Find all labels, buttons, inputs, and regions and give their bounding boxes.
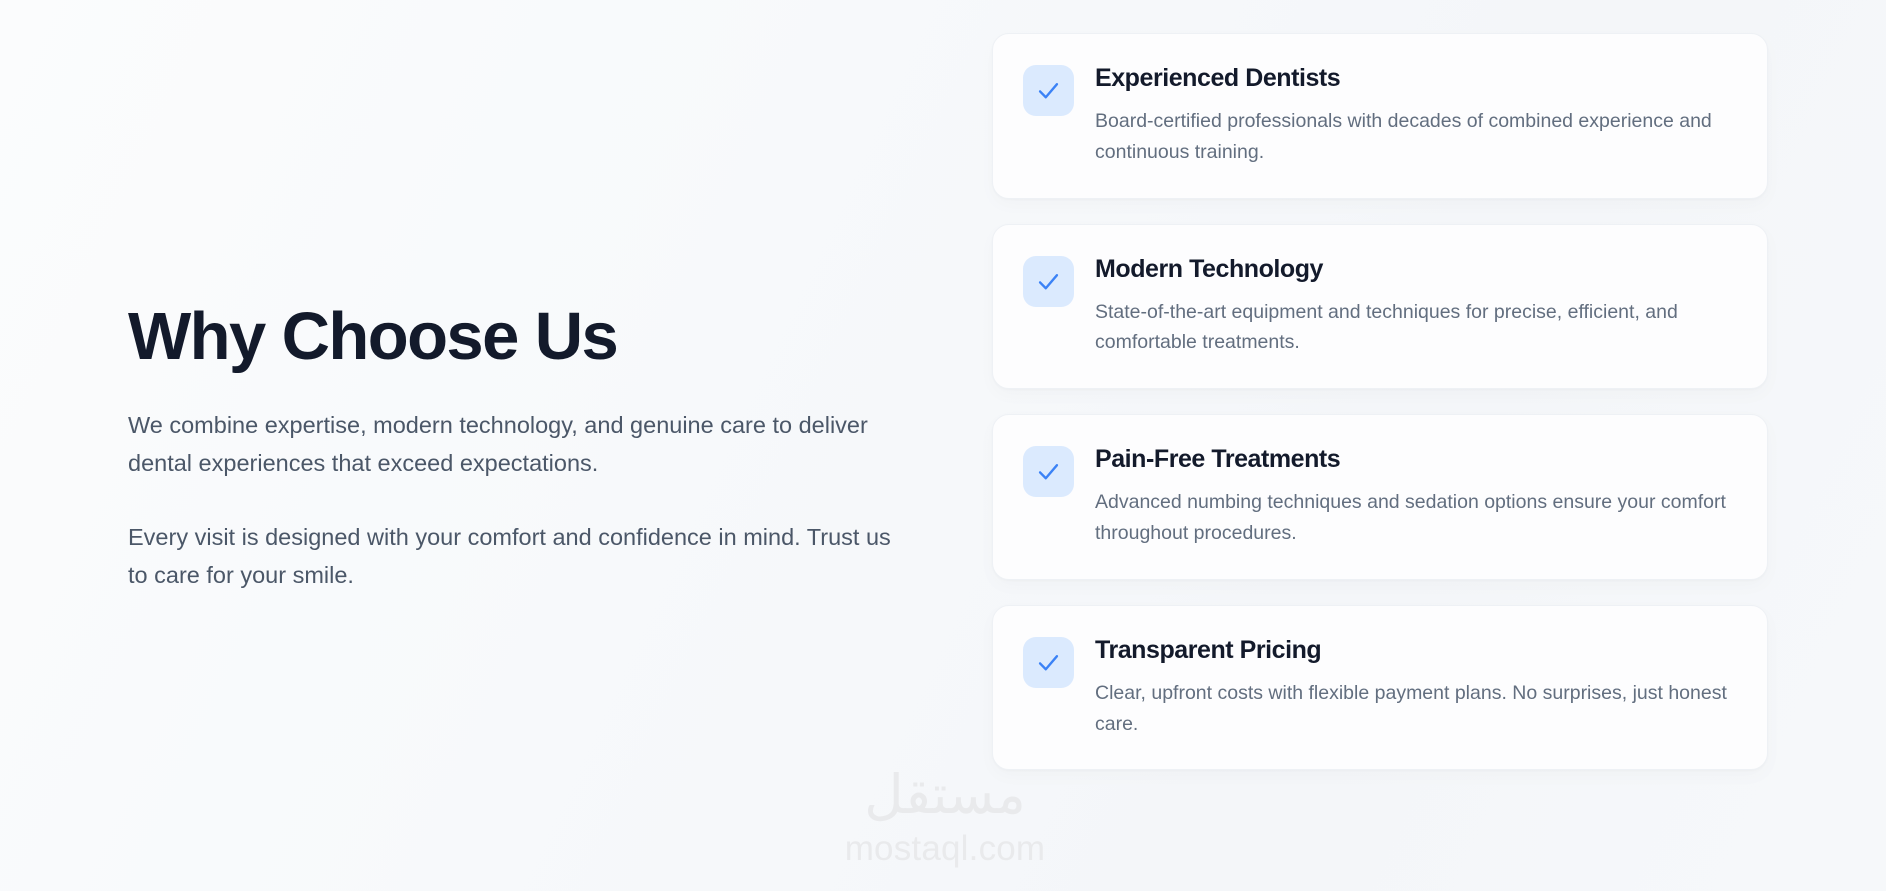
feature-card-body: Pain-Free Treatments Advanced numbing te… [1095,443,1737,549]
feature-card-description: Clear, upfront costs with flexible payme… [1095,678,1737,740]
feature-card-body: Experienced Dentists Board-certified pro… [1095,62,1737,168]
feature-card-description: Advanced numbing techniques and sedation… [1095,487,1737,549]
check-icon [1023,446,1074,497]
feature-card-experienced-dentists[interactable]: Experienced Dentists Board-certified pro… [992,33,1768,199]
feature-card-title: Transparent Pricing [1095,635,1737,665]
feature-card-transparent-pricing[interactable]: Transparent Pricing Clear, upfront costs… [992,605,1768,771]
feature-card-body: Modern Technology State-of-the-art equip… [1095,253,1737,359]
page-title: Why Choose Us [128,301,928,372]
feature-card-title: Modern Technology [1095,254,1737,284]
feature-card-title: Experienced Dentists [1095,63,1737,93]
feature-card-modern-technology[interactable]: Modern Technology State-of-the-art equip… [992,224,1768,390]
check-icon [1023,637,1074,688]
feature-cards-list: Experienced Dentists Board-certified pro… [992,33,1768,770]
why-choose-us-section: Why Choose Us We combine expertise, mode… [0,0,1886,891]
intro-paragraph-2: Every visit is designed with your comfor… [128,518,903,594]
intro-text-column: Why Choose Us We combine expertise, mode… [128,0,928,891]
check-icon [1023,256,1074,307]
intro-paragraph-1: We combine expertise, modern technology,… [128,406,903,482]
feature-card-description: State-of-the-art equipment and technique… [1095,297,1737,359]
feature-card-body: Transparent Pricing Clear, upfront costs… [1095,634,1737,740]
feature-card-description: Board-certified professionals with decad… [1095,106,1737,168]
check-icon [1023,65,1074,116]
feature-card-title: Pain-Free Treatments [1095,444,1737,474]
feature-card-pain-free-treatments[interactable]: Pain-Free Treatments Advanced numbing te… [992,414,1768,580]
